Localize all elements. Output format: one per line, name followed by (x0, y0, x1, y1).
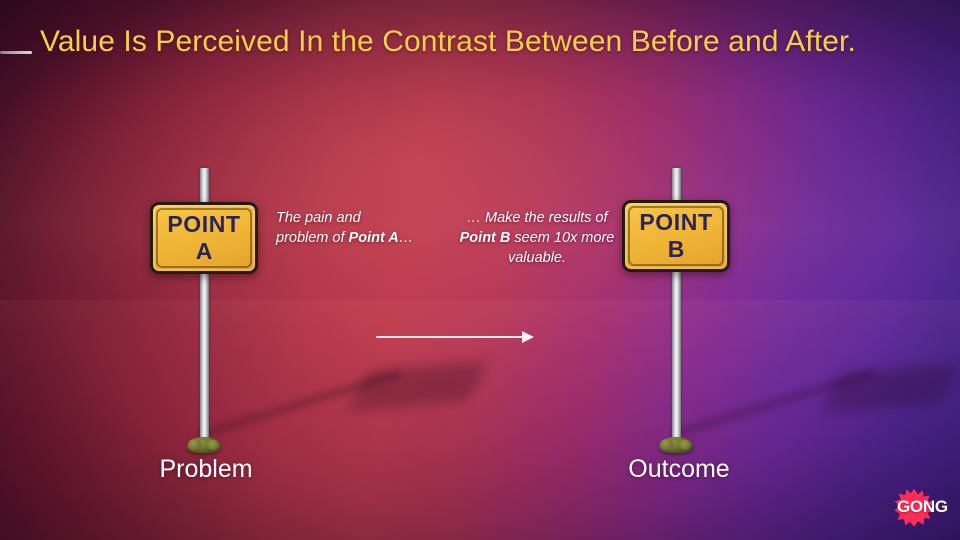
progression-arrow (376, 330, 536, 344)
arrow-line-icon (376, 336, 524, 338)
caption-outcome-emphasis: Point B (460, 230, 511, 246)
sign-point-b[interactable]: POINT B (622, 200, 730, 272)
grass-tuft-b (659, 437, 693, 453)
sign-a-line1: POINT (167, 213, 240, 236)
gong-logo-text: GONG (897, 497, 948, 517)
slide-canvas: Value Is Perceived In the Contrast Betwe… (0, 0, 960, 540)
gong-logo: GONG (893, 486, 955, 530)
caption-problem: The pain and problem of Point A… (276, 208, 416, 248)
ground-label-outcome: Outcome (579, 455, 779, 484)
arrow-head-icon (522, 331, 534, 343)
sign-b-line2: B (668, 238, 685, 261)
caption-outcome-part1: … Make the results of (466, 210, 607, 226)
sign-a-line2: A (196, 240, 213, 263)
caption-outcome-part2: seem 10x more valuable. (508, 230, 614, 266)
caption-problem-part2: … (399, 230, 414, 246)
caption-problem-emphasis: Point A (349, 230, 399, 246)
ground-label-problem: Problem (106, 455, 306, 484)
sign-b-line1: POINT (639, 211, 712, 234)
caption-outcome: … Make the results of Point B seem 10x m… (458, 208, 616, 268)
